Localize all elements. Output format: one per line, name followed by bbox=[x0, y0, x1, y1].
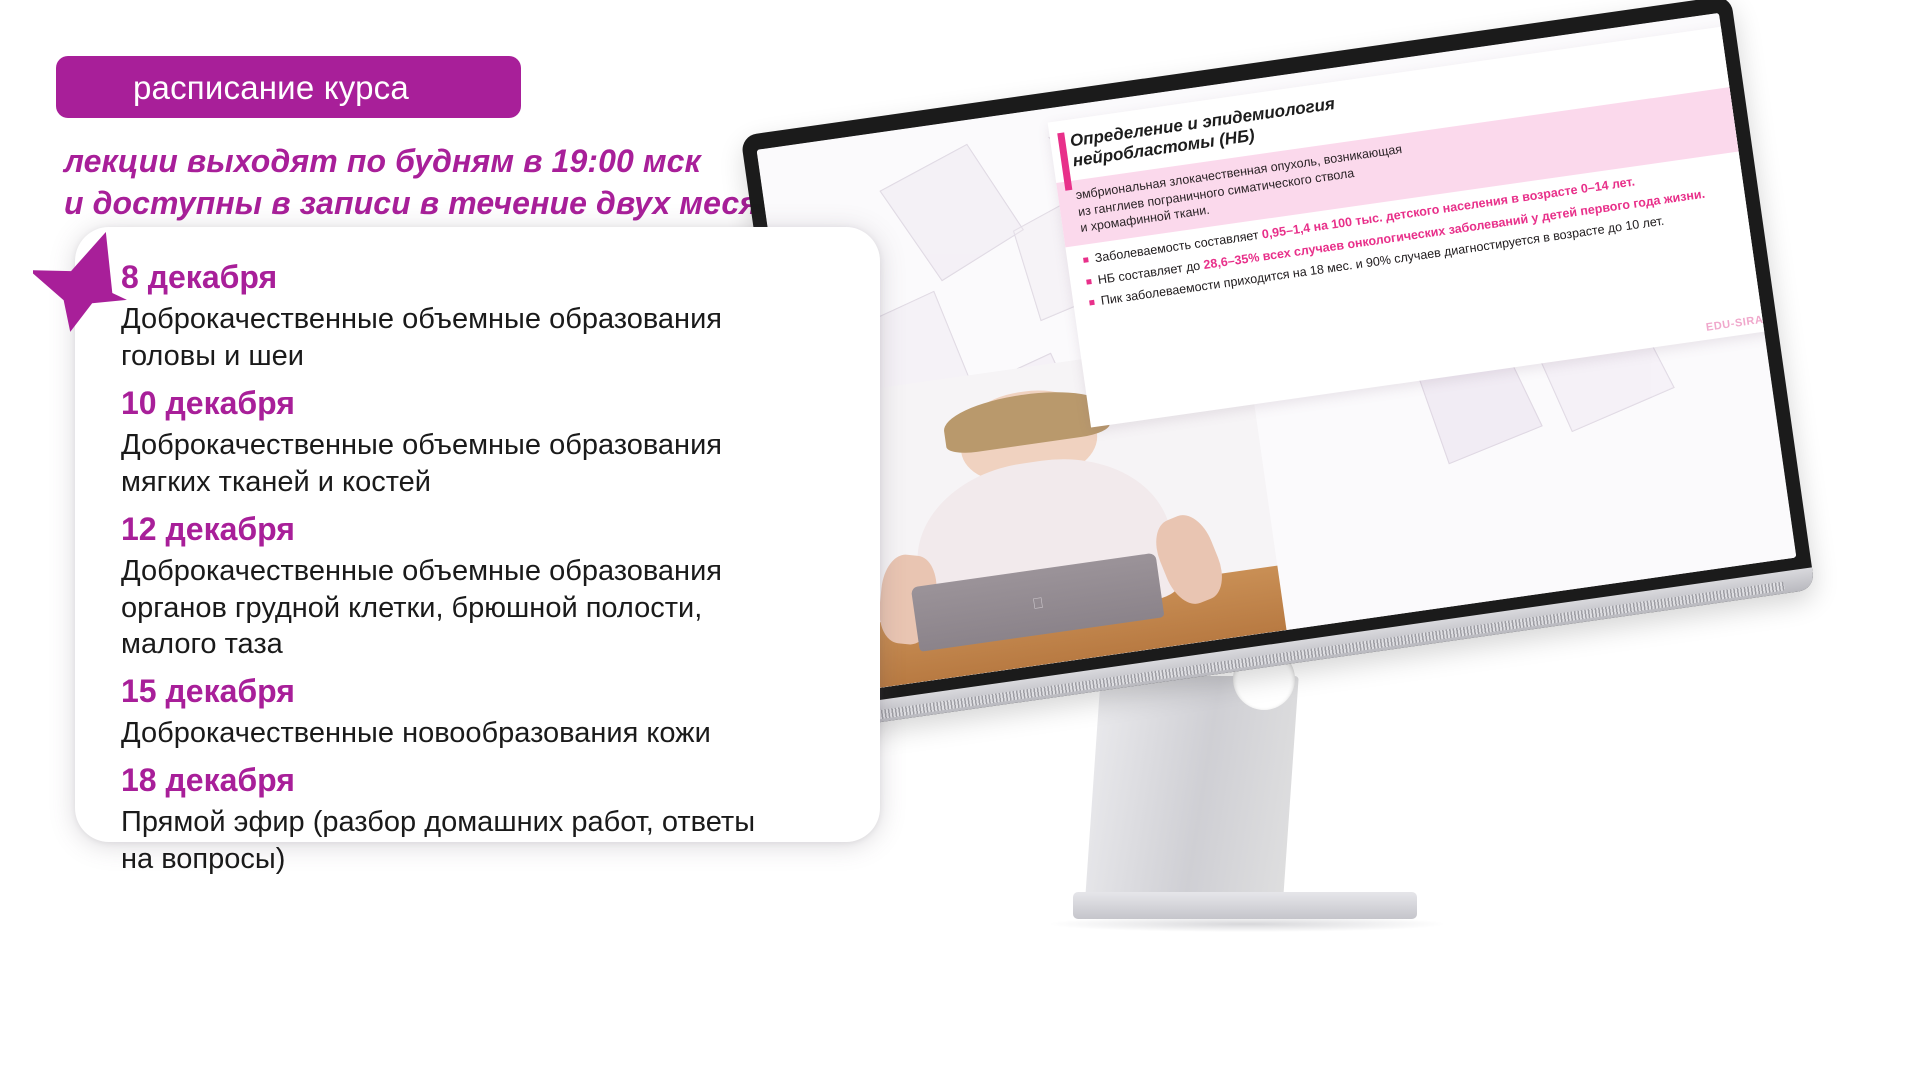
entry-description: Прямой эфир (разбор домашних работ, отве… bbox=[121, 804, 834, 878]
entry-description: Доброкачественные объемные образования о… bbox=[121, 553, 834, 663]
slide-canvas: расписание курса лекции выходят по будня… bbox=[0, 0, 1920, 1080]
monitor-screen:  Определение и эпидемиология нейробласт… bbox=[757, 13, 1797, 694]
entry-date: 10 декабря bbox=[121, 381, 834, 425]
course-schedule-badge: расписание курса bbox=[56, 56, 521, 118]
monitor-stand-base bbox=[1073, 892, 1417, 919]
apple-logo-icon:  bbox=[1031, 595, 1044, 611]
entry-description: Доброкачественные объемные образования м… bbox=[121, 427, 834, 501]
entry-date: 8 декабря bbox=[121, 255, 834, 299]
entry-description: Доброкачественные объемные образования г… bbox=[121, 301, 834, 375]
course-schedule-badge-label: расписание курса bbox=[133, 71, 409, 104]
entry-date: 12 декабря bbox=[121, 507, 834, 551]
slide-watermark: EDU-SIRAN bbox=[1705, 312, 1773, 333]
list-item: 10 декабря Доброкачественные объемные об… bbox=[121, 381, 834, 501]
list-item: 12 декабря Доброкачественные объемные об… bbox=[121, 507, 834, 664]
purple-arrow-marker bbox=[33, 224, 137, 334]
desktop-monitor:  Определение и эпидемиология нейробласт… bbox=[815, 90, 1920, 1080]
entry-date: 15 декабря bbox=[121, 669, 834, 713]
entry-description: Доброкачественные новообразования кожи bbox=[121, 715, 834, 752]
list-item: 18 декабря Прямой эфир (разбор домашних … bbox=[121, 758, 834, 878]
monitor-screen-bezel:  Определение и эпидемиология нейробласт… bbox=[740, 0, 1815, 730]
list-item: 8 декабря Доброкачественные объемные обр… bbox=[121, 255, 834, 375]
schedule-list: 8 декабря Доброкачественные объемные обр… bbox=[121, 255, 834, 878]
schedule-card: 8 декабря Доброкачественные объемные обр… bbox=[75, 227, 880, 842]
list-item: 15 декабря Доброкачественные новообразов… bbox=[121, 669, 834, 752]
entry-date: 18 декабря bbox=[121, 758, 834, 802]
